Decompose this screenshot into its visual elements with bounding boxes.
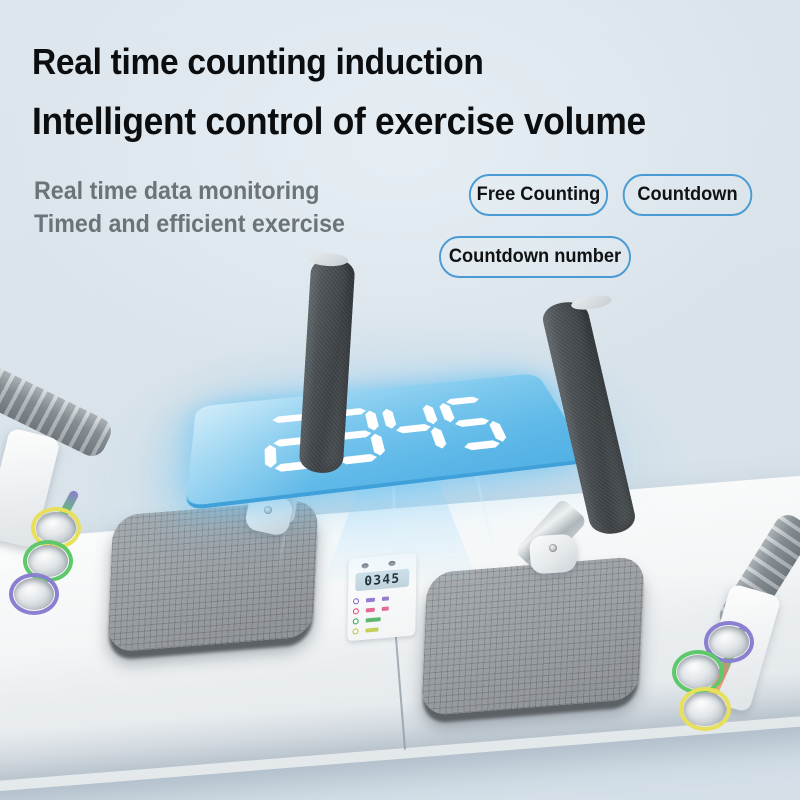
legend-circle-icon: [353, 618, 359, 625]
digit-segment-g: [454, 417, 491, 427]
projected-digit: [437, 395, 511, 452]
headline-line-1: Real time counting induction: [32, 41, 484, 83]
legend-label-mark: [366, 598, 375, 603]
right-handle-socket: [529, 533, 578, 574]
subtitle-line-1: Real time data monitoring: [34, 177, 319, 206]
holographic-panel: [185, 373, 593, 510]
digit-segment-e: [264, 444, 277, 468]
digit-segment-g: [395, 423, 432, 434]
projected-counter-display: [196, 358, 572, 508]
projected-digit: [380, 401, 449, 459]
digit-segment-c: [488, 420, 509, 442]
digit-segment-c: [429, 427, 448, 449]
headline-line-2: Intelligent control of exercise volume: [32, 101, 646, 144]
product-marketing-image: Real time counting induction Intelligent…: [0, 0, 800, 800]
legend-circle-icon: [353, 598, 359, 605]
mode-pill-countdown[interactable]: Countdown: [623, 174, 753, 216]
right-socket-ring-3[interactable]: [679, 687, 731, 731]
panel-mode-legend: [352, 591, 412, 636]
digit-segment-d: [339, 453, 378, 465]
legend-label-mark: [382, 596, 389, 601]
legend-circle-icon: [353, 608, 359, 615]
subtitle-line-2: Timed and efficient exercise: [34, 210, 345, 239]
digit-segment-c: [370, 433, 386, 456]
digit-segment-d: [463, 440, 502, 451]
digit-segment-b: [364, 410, 379, 431]
left-socket-ring-3[interactable]: [9, 573, 59, 615]
mode-pill-countdown-number[interactable]: Countdown number: [439, 236, 631, 278]
digit-segment-f: [438, 402, 456, 422]
digit-segment-f: [381, 408, 397, 429]
legend-label-mark: [382, 606, 389, 611]
legend-label-mark: [366, 617, 381, 622]
right-socket-screw-icon: [549, 544, 557, 552]
projected-digit-group: [186, 373, 591, 506]
legend-circle-icon: [352, 628, 358, 635]
legend-label-mark: [366, 608, 375, 613]
mode-pill-free-counting[interactable]: Free Counting: [469, 174, 608, 216]
digit-segment-b: [421, 404, 438, 425]
legend-label-mark: [365, 627, 378, 632]
digit-segment-a: [445, 396, 480, 405]
